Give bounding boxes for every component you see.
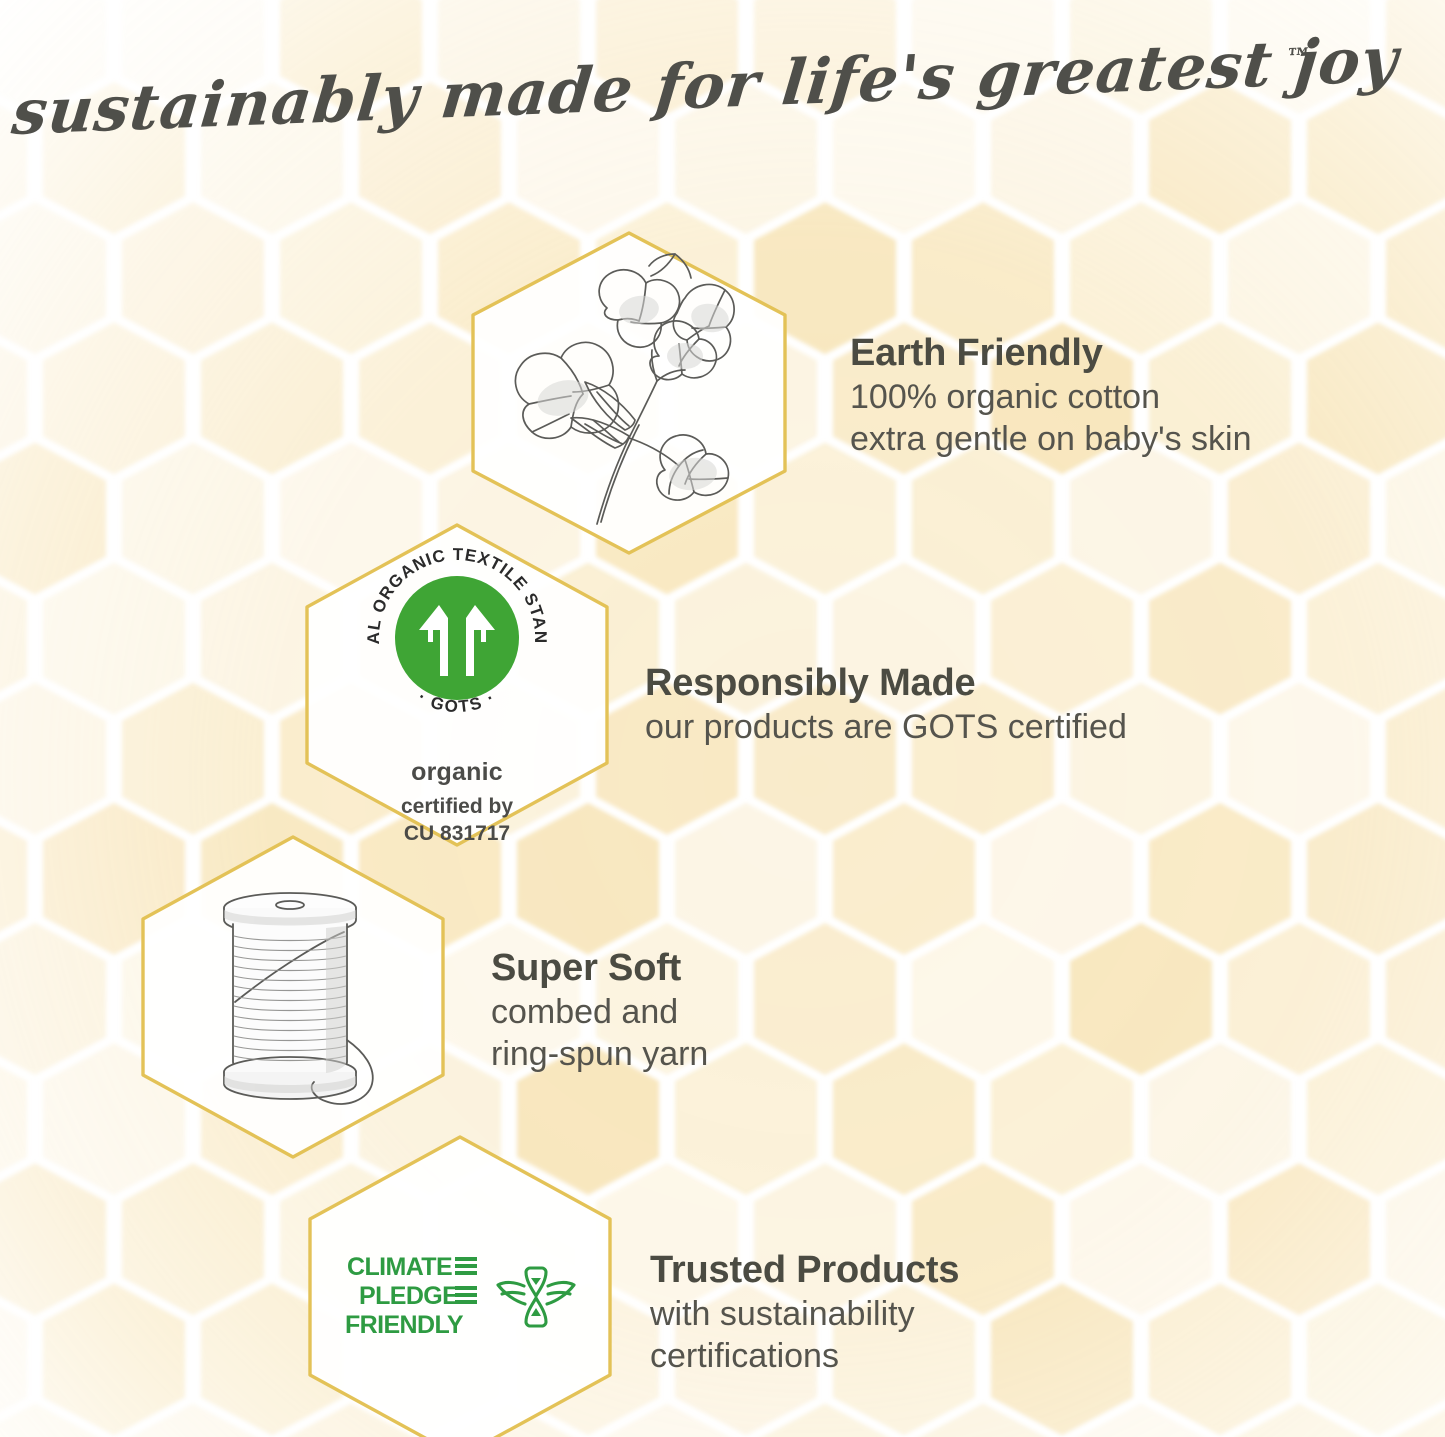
cpf-line-1: CLIMATE <box>347 1253 452 1281</box>
feature-row-trusted-products: CLIMATE PLEDGE FRIENDLY <box>300 1132 959 1437</box>
feature-text-responsibly-made: Responsibly Made our products are GOTS c… <box>645 661 1127 749</box>
feature-title: Responsibly Made <box>645 661 1127 706</box>
feature-row-super-soft: Super Soft combed and ring-spun yarn <box>133 832 708 1162</box>
headline-text: sustainably made for life's greatest joy <box>7 23 1404 149</box>
hex-card-super-soft <box>133 832 453 1162</box>
feature-desc-line: certifications <box>650 1335 959 1378</box>
gots-caption-organic: organic <box>411 758 503 787</box>
feature-text-super-soft: Super Soft combed and ring-spun yarn <box>491 946 708 1076</box>
feature-desc-line: our products are GOTS certified <box>645 706 1127 749</box>
feature-title: Super Soft <box>491 946 708 991</box>
feature-desc-line: with sustainability <box>650 1293 959 1336</box>
feature-desc-line: extra gentle on baby's skin <box>850 418 1252 461</box>
headline-trademark: ™ <box>1283 42 1312 74</box>
hex-card-responsibly-made: GLOBAL ORGANIC TEXTILE STANDARD · GOTS ·… <box>297 520 617 850</box>
feature-text-earth-friendly: Earth Friendly 100% organic cotton extra… <box>850 331 1252 461</box>
gots-caption-certified-by: certified by <box>401 795 513 820</box>
feature-desc-line: ring-spun yarn <box>491 1033 708 1076</box>
headline-banner: sustainably made for life's greatest joy… <box>0 34 1445 144</box>
cpf-line-2: PLEDGE <box>359 1282 458 1310</box>
hex-card-trusted-products: CLIMATE PLEDGE FRIENDLY <box>300 1132 620 1437</box>
feature-text-trusted-products: Trusted Products with sustainability cer… <box>650 1248 959 1378</box>
feature-row-responsibly-made: GLOBAL ORGANIC TEXTILE STANDARD · GOTS ·… <box>297 520 1127 850</box>
feature-title: Earth Friendly <box>850 331 1252 376</box>
climate-pledge-friendly-icon: CLIMATE PLEDGE FRIENDLY <box>343 1251 577 1343</box>
gots-green-disc <box>395 576 519 700</box>
feature-title: Trusted Products <box>650 1248 959 1293</box>
thread-spool-sketch-icon <box>178 872 408 1122</box>
gots-organic-certification-icon: GLOBAL ORGANIC TEXTILE STANDARD · GOTS · <box>349 530 565 746</box>
feature-desc-line: combed and <box>491 991 708 1034</box>
cpf-line-3: FRIENDLY <box>345 1311 464 1339</box>
infographic-canvas: sustainably made for life's greatest joy… <box>0 0 1445 1437</box>
cotton-branch-sketch-icon <box>489 248 769 538</box>
climate-pledge-friendly-wordmark: CLIMATE PLEDGE FRIENDLY <box>343 1251 479 1343</box>
feature-desc-line: 100% organic cotton <box>850 376 1252 419</box>
headline-script-text: sustainably made for life's greatest joy… <box>93 33 1353 145</box>
winged-hourglass-icon <box>495 1256 577 1338</box>
feature-row-earth-friendly: Earth Friendly 100% organic cotton extra… <box>460 228 1252 558</box>
cpf-bar-accents <box>455 1257 477 1304</box>
hex-card-earth-friendly <box>460 228 798 558</box>
